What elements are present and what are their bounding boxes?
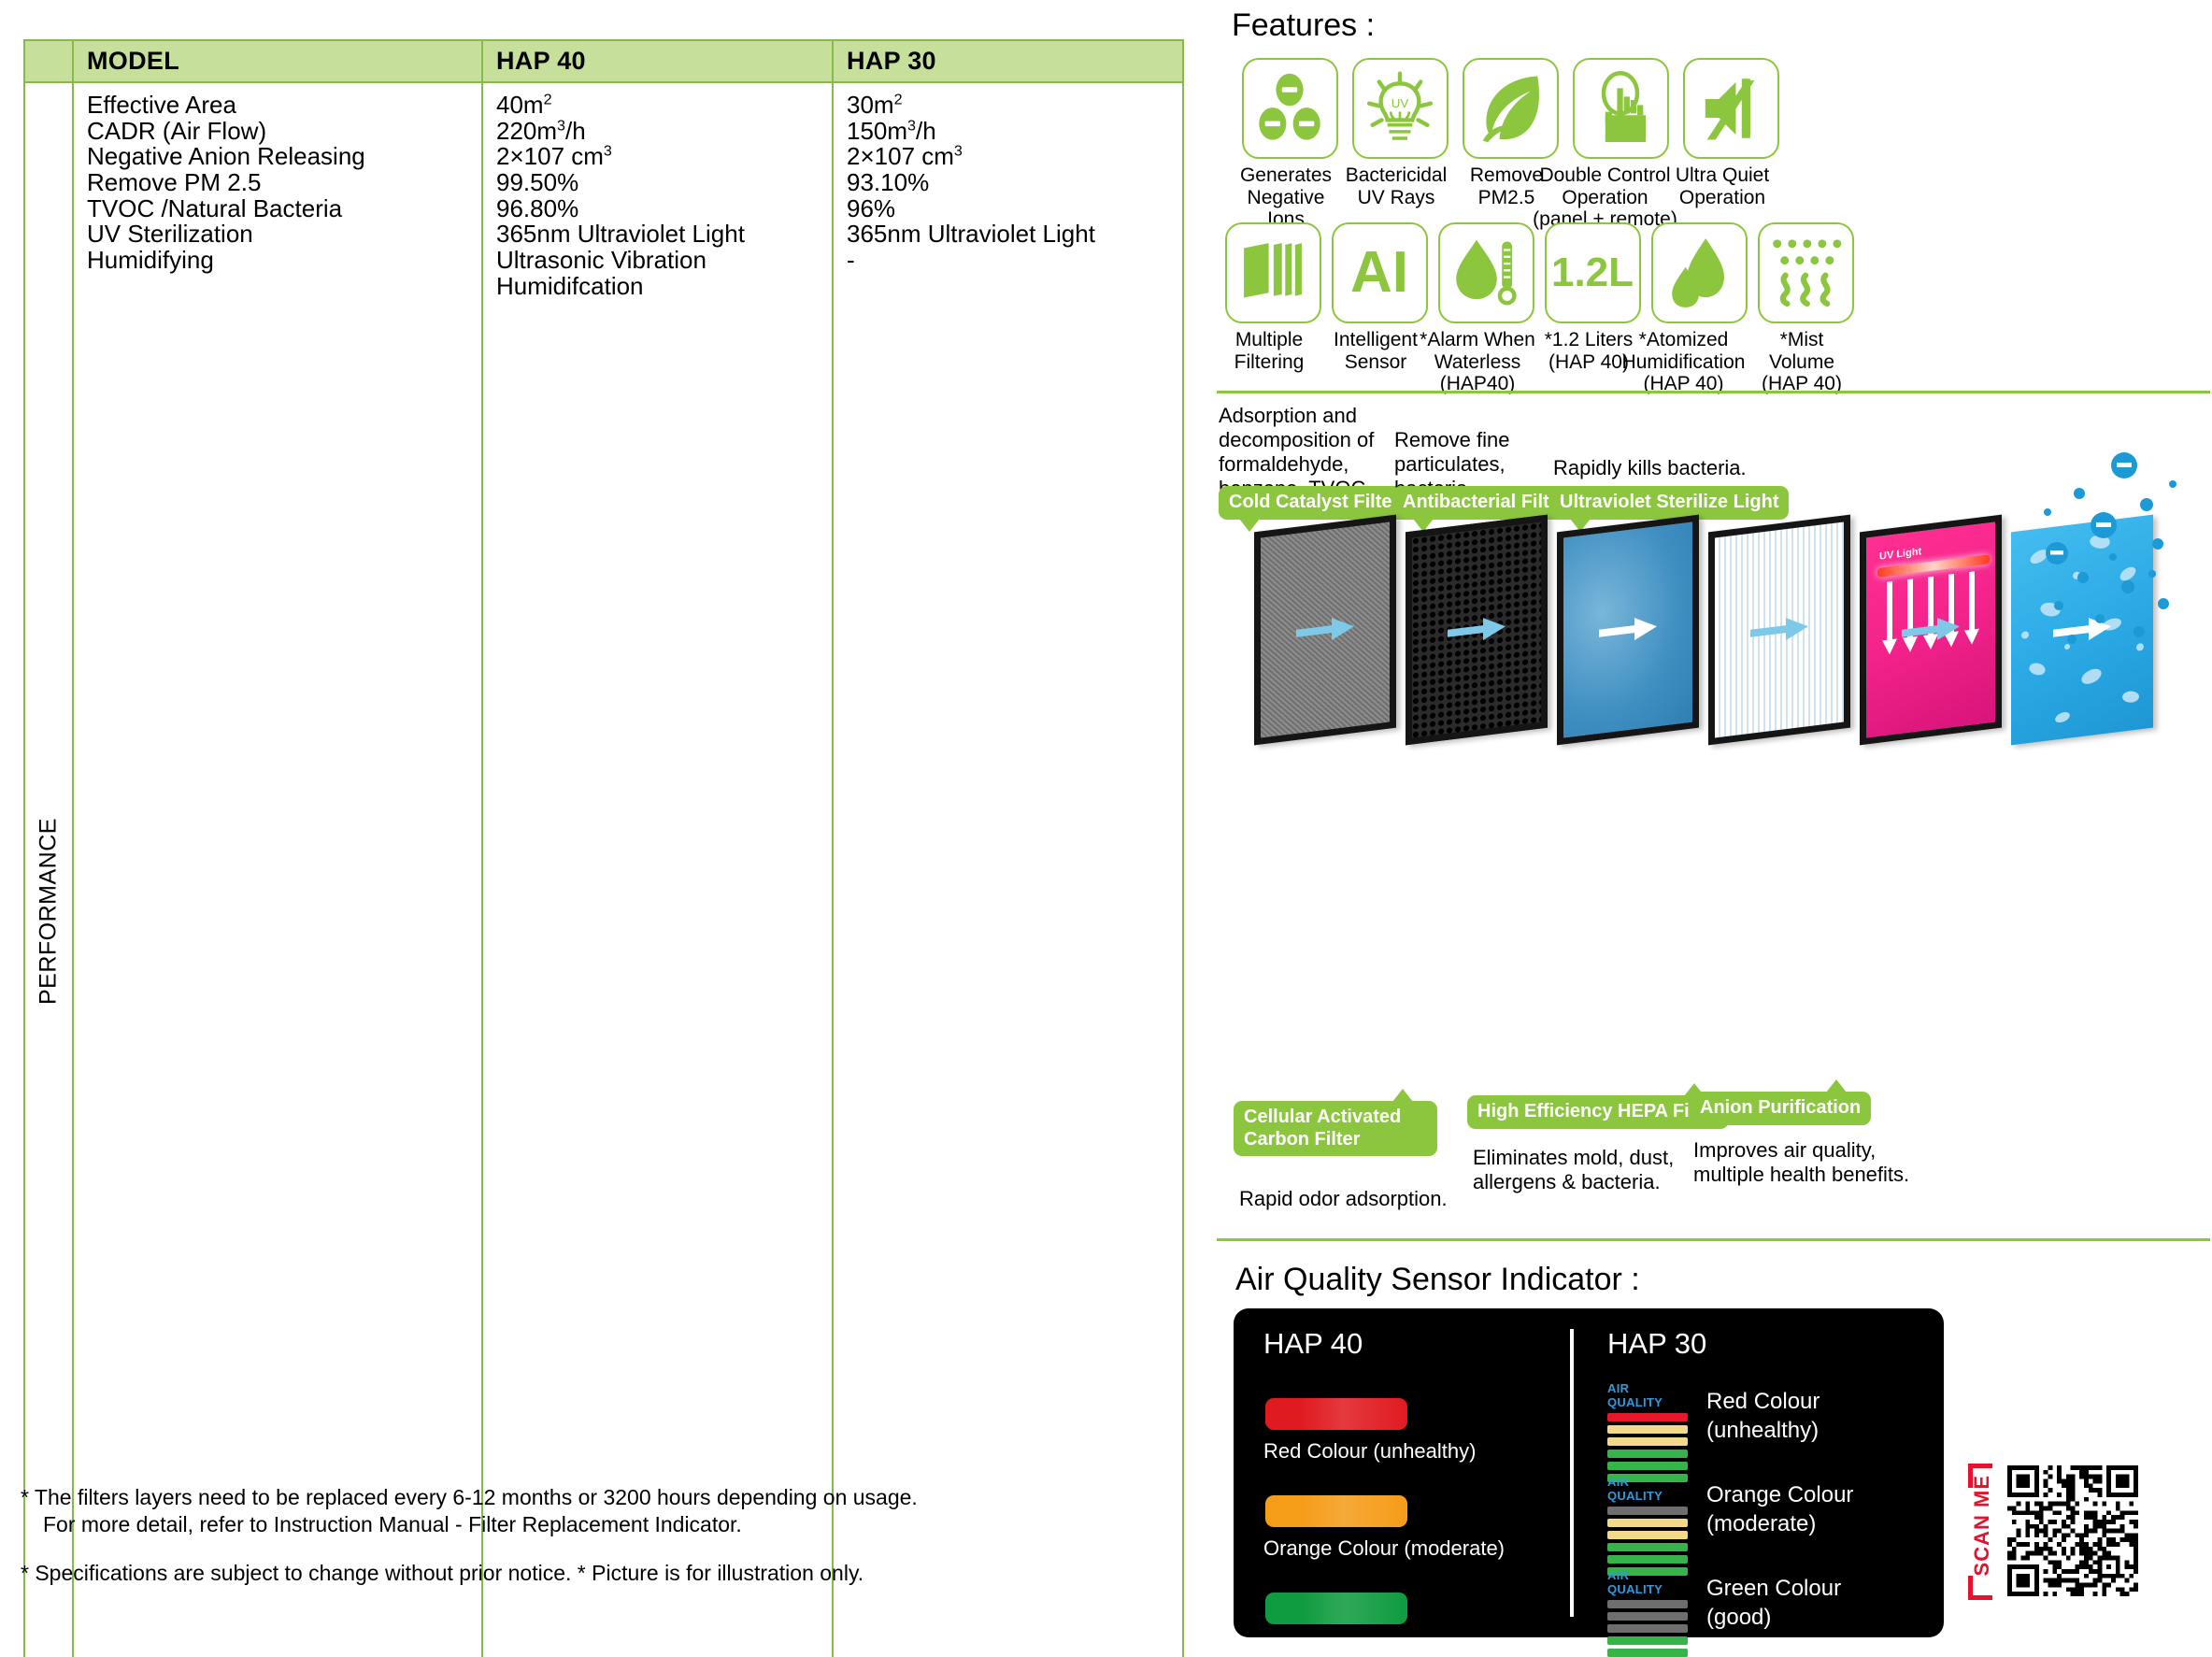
multi-layer-icon [1225, 222, 1321, 323]
aq-model-hap30: HAP 30 [1607, 1327, 1706, 1361]
feature-droplet-thermometer: *Alarm WhenWaterless(HAP40) [1437, 222, 1534, 395]
filter-panel-antibacterial [1557, 515, 1699, 746]
aq-color-bar [1265, 1495, 1407, 1527]
filter-panel-cold-catalyst [1254, 515, 1396, 746]
callout-bubble-top-1: Cold Catalyst Filter [1219, 486, 1409, 520]
aq-led-group: AIR QUALITY [1607, 1381, 1688, 1482]
aq-model-hap40: HAP 40 [1263, 1327, 1363, 1361]
spec-value: Humidifcation [496, 274, 832, 300]
aq-led-bar [1607, 1519, 1688, 1527]
aq-led-group: AIR QUALITY [1607, 1568, 1688, 1657]
aq-led-bar [1607, 1507, 1688, 1515]
aq-led-label: Red Colour(unhealthy) [1706, 1387, 1820, 1445]
feature-negative-ions: GeneratesNegative Ions [1241, 58, 1338, 231]
spec-value: 2×107 cm3 [496, 144, 832, 170]
aq-color-label: Green Colour (good) [1263, 1634, 1452, 1657]
anion-dots-cloud [2042, 447, 2182, 662]
leaf-icon [1463, 58, 1559, 159]
features-title: Features : [1232, 7, 1375, 44]
spec-label: Negative Anion Releasing [87, 144, 481, 170]
aq-led-group: AIR QUALITY [1607, 1475, 1688, 1576]
section-labels-cell: Effective AreaCADR (Air Flow)Negative An… [73, 82, 482, 1657]
feature-uv-bulb: UV BactericidalUV Rays [1351, 58, 1449, 231]
aq-led-bar [1607, 1555, 1688, 1564]
category-label-performance: PERFORMANCE [24, 82, 73, 1657]
air-quality-title: Air Quality Sensor Indicator : [1235, 1262, 1640, 1298]
aq-color-bar [1265, 1593, 1407, 1624]
feature-caption: GeneratesNegative Ions [1230, 164, 1342, 231]
spec-value: - [847, 248, 1182, 274]
feature-caption: Ultra QuietOperation [1657, 164, 1788, 208]
uv-bulb-icon: UV [1352, 58, 1449, 159]
spec-value: 96.80% [496, 196, 832, 222]
feature-mute-speaker: Ultra QuietOperation [1682, 58, 1779, 231]
aq-color-label: Red Colour (unhealthy) [1263, 1439, 1476, 1464]
aq-led-bar [1607, 1531, 1688, 1539]
qr-code-block[interactable]: SCAN ME [1970, 1460, 2157, 1628]
aq-led-title: AIR QUALITY [1607, 1381, 1688, 1409]
uv-light-label: UV Light [1879, 546, 1921, 563]
droplet-thermometer-icon [1438, 222, 1534, 323]
divider-top [1217, 391, 2210, 393]
footnote-line-2: For more detail, refer to Instruction Ma… [21, 1511, 1207, 1538]
aq-led-bar [1607, 1612, 1688, 1621]
spec-value: 30m2 [847, 93, 1182, 119]
spec-value: 40m2 [496, 93, 832, 119]
callout-bubble-bottom-1: Cellular Activated Carbon Filter [1234, 1101, 1437, 1156]
scan-me-label: SCAN ME [1970, 1475, 1994, 1576]
product-spec-sheet: MODELHAP 40HAP 30PERFORMANCEEffective Ar… [0, 0, 2212, 1657]
spec-value: 365nm Ultraviolet Light [496, 221, 832, 248]
qr-code-icon[interactable] [2007, 1465, 2138, 1596]
air-quality-panel: HAP 40 HAP 30 Red Colour (unhealthy)Oran… [1234, 1308, 1944, 1637]
spec-label: TVOC /Natural Bacteria [87, 196, 481, 222]
callout-desc-bottom-2: Eliminates mold, dust,allergens & bacter… [1473, 1146, 1674, 1194]
scan-bracket-bottom-icon [1968, 1576, 1992, 1600]
feature-two-droplets: *AtomizedHumidification(HAP 40) [1650, 222, 1748, 395]
footnote-line-3: * Specifications are subject to change w… [21, 1560, 1207, 1587]
spec-label: CADR (Air Flow) [87, 119, 481, 145]
aq-led-bar [1607, 1600, 1688, 1608]
feature-multi-layer: MultipleFiltering [1224, 222, 1321, 395]
header-hap40-cell: HAP 40 [482, 40, 833, 82]
mist-waves-icon [1758, 222, 1854, 323]
features-row-2: MultipleFilteringAIIntelligentSensor *Al… [1224, 222, 1854, 395]
callout-desc-bottom-1: Rapid odor adsorption. [1239, 1187, 1448, 1211]
hand-touch-icon [1573, 58, 1669, 159]
uv-down-arrows [1881, 569, 1990, 657]
specification-table-wrapper: MODELHAP 40HAP 30PERFORMANCEEffective Ar… [23, 39, 1182, 1657]
aq-led-title: AIR QUALITY [1607, 1568, 1688, 1596]
two-droplets-icon [1651, 222, 1748, 323]
filter-panel-uv-light: UV Light [1860, 515, 2002, 746]
aq-led-bar [1607, 1425, 1688, 1434]
section-values-hap40-cell: 40m2220m3/h2×107 cm399.50%96.80%365nm Ul… [482, 82, 833, 1657]
spec-label: Effective Area [87, 93, 481, 119]
filter-panel-activated-carbon [1406, 515, 1548, 746]
feature-hand-touch: Double ControlOperation(panel + remote) [1572, 58, 1669, 231]
aq-led-label: Green Colour(good) [1706, 1574, 1841, 1632]
spec-value: 220m3/h [496, 119, 832, 145]
callout-bubble-top-3: Ultraviolet Sterilize Light [1549, 486, 1789, 520]
svg-text:UV: UV [1391, 96, 1409, 110]
header-model-cell: MODEL [73, 40, 482, 82]
aq-led-title: AIR QUALITY [1607, 1475, 1688, 1503]
filter-layer-stack: UV Light [1254, 523, 2179, 766]
feature-caption: *Alarm WhenWaterless(HAP40) [1412, 329, 1543, 395]
table-header-row: MODELHAP 40HAP 30 [24, 40, 1183, 82]
spec-value: 2×107 cm3 [847, 144, 1182, 170]
aq-color-label: Orange Colour (moderate) [1263, 1536, 1505, 1561]
spec-value: 93.10% [847, 170, 1182, 196]
aq-led-label: Orange Colour(moderate) [1706, 1480, 1853, 1538]
callout-bubble-bottom-3: Anion Purification [1690, 1092, 1871, 1125]
divider-bottom [1217, 1238, 2210, 1241]
spec-value: Ultrasonic Vibration [496, 248, 832, 274]
footnotes: * The filters layers need to be replaced… [21, 1484, 1207, 1587]
spec-label: Humidifying [87, 248, 481, 274]
aq-divider [1570, 1329, 1574, 1617]
footnote-line-1: * The filters layers need to be replaced… [21, 1484, 1207, 1511]
header-hap30-cell: HAP 30 [833, 40, 1183, 82]
feature-mist-waves: *MistVolume(HAP 40) [1757, 222, 1854, 395]
aq-led-bar [1607, 1649, 1688, 1657]
spec-value: 365nm Ultraviolet Light [847, 221, 1182, 248]
callout-desc-bottom-3: Improves air quality,multiple health ben… [1693, 1138, 1909, 1187]
spec-label: UV Sterilization [87, 221, 481, 248]
specification-table: MODELHAP 40HAP 30PERFORMANCEEffective Ar… [23, 39, 1184, 1657]
aq-led-bar [1607, 1543, 1688, 1551]
aq-led-bar [1607, 1462, 1688, 1470]
aq-color-bar [1265, 1398, 1407, 1430]
right-panel: Features : GeneratesNegative Ions UV Bac… [1215, 0, 2212, 1657]
spec-value: 150m3/h [847, 119, 1182, 145]
feature-caption: MultipleFiltering [1213, 329, 1325, 373]
spec-value: 99.50% [496, 170, 832, 196]
features-row-1: GeneratesNegative Ions UV BactericidalUV… [1241, 58, 1779, 231]
feature-caption: *MistVolume(HAP 40) [1746, 329, 1858, 395]
table-section-performance: PERFORMANCEEffective AreaCADR (Air Flow)… [24, 82, 1183, 1657]
feature-caption: BactericidalUV Rays [1340, 164, 1452, 208]
spec-label: Remove PM 2.5 [87, 170, 481, 196]
mute-speaker-icon [1683, 58, 1779, 159]
callout-desc-top-3: Rapidly kills bacteria. [1553, 456, 1747, 480]
ai-text-icon: AI [1332, 222, 1428, 323]
aq-led-bar [1607, 1636, 1688, 1645]
feature-caption: *AtomizedHumidification(HAP 40) [1605, 329, 1763, 395]
aq-led-bar [1607, 1413, 1688, 1421]
filter-panel-hepa [1708, 515, 1850, 746]
section-values-hap30-cell: 30m2150m3/h2×107 cm393.10%96%365nm Ultra… [833, 82, 1183, 1657]
aq-led-bar [1607, 1437, 1688, 1446]
aq-led-bar [1607, 1450, 1688, 1458]
negative-ions-icon [1242, 58, 1338, 159]
header-category-cell [24, 40, 73, 82]
capacity-text-icon: 1.2L [1545, 222, 1641, 323]
aq-led-bar [1607, 1624, 1688, 1633]
spec-value: 96% [847, 196, 1182, 222]
